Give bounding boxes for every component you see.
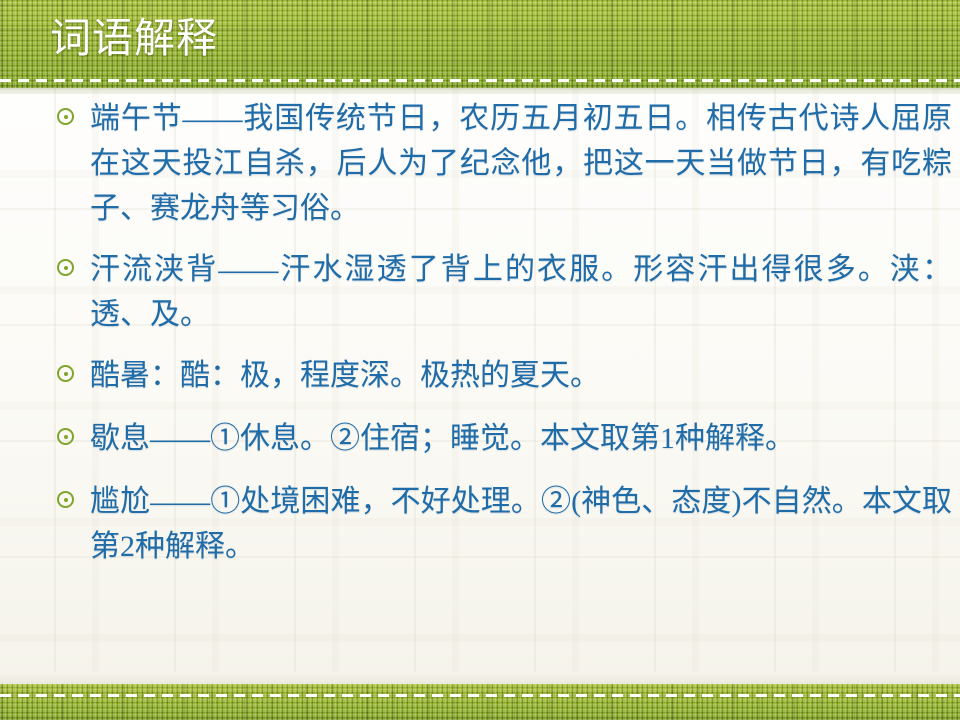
ring-bullet-icon (57, 259, 74, 276)
ring-bullet-icon (57, 428, 74, 445)
bottom-banner (0, 684, 960, 720)
list-item-text: 端午节——我国传统节日，农历五月初五日。相传古代诗人屈原在这天投江自杀，后人为了… (90, 96, 952, 231)
list-item: 尴尬——①处境困难，不好处理。②(神色、态度)不自然。本文取第2种解释。 (0, 479, 960, 569)
list-item-text: 歇息——①休息。②住宿；睡觉。本文取第1种解释。 (90, 416, 952, 461)
bottom-banner-dashed-rule (0, 694, 960, 697)
slide-title: 词语解释 (50, 18, 218, 59)
top-banner-shadow (0, 88, 960, 94)
list-item: 酷暑：酷：极，程度深。极热的夏天。 (0, 353, 960, 398)
list-item: 汗流浃背——汗水湿透了背上的衣服。形容汗出得很多。浃：透、及。 (0, 247, 960, 337)
ring-bullet-icon (57, 108, 74, 125)
ring-bullet-icon (57, 365, 74, 382)
list-item: 端午节——我国传统节日，农历五月初五日。相传古代诗人屈原在这天投江自杀，后人为了… (0, 96, 960, 231)
bottom-spacer-band (0, 672, 960, 684)
slide-canvas: 词语解释 端午节——我国传统节日，农历五月初五日。相传古代诗人屈原在这天投江自杀… (0, 0, 960, 720)
list-item: 歇息——①休息。②住宿；睡觉。本文取第1种解释。 (0, 416, 960, 461)
bullet-list: 端午节——我国传统节日，农历五月初五日。相传古代诗人屈原在这天投江自杀，后人为了… (0, 96, 960, 585)
list-item-text: 尴尬——①处境困难，不好处理。②(神色、态度)不自然。本文取第2种解释。 (90, 479, 952, 569)
list-item-text: 酷暑：酷：极，程度深。极热的夏天。 (90, 353, 952, 398)
ring-bullet-icon (57, 491, 74, 508)
list-item-text: 汗流浃背——汗水湿透了背上的衣服。形容汗出得很多。浃：透、及。 (90, 247, 952, 337)
top-banner-dashed-rule (0, 79, 960, 82)
